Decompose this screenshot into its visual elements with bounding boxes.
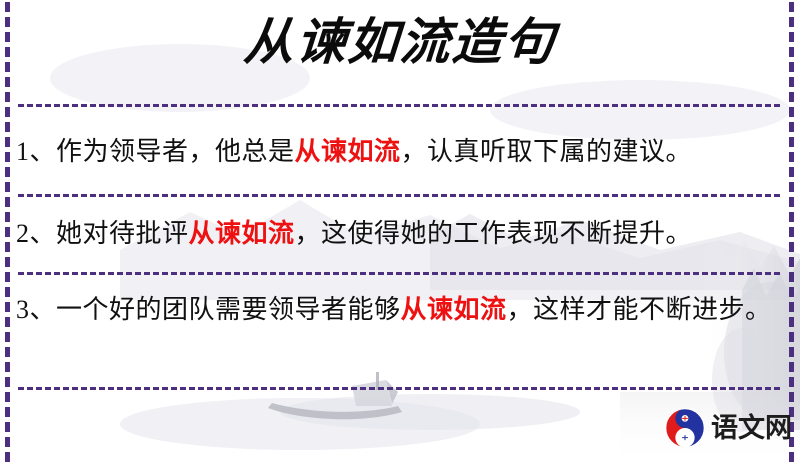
sentence-item-3: 3、一个好的团队需要领导者能够从谏如流，这样才能不断进步。 xyxy=(16,288,784,332)
sentence-3-index: 3、 xyxy=(16,295,56,324)
divider-after-sentence-1 xyxy=(18,194,780,197)
slide-page: 从谏如流造句 1、作为领导者，他总是从谏如流，认真听取下属的建议。 2、她对待批… xyxy=(0,0,800,464)
site-logo-text: 语文网 xyxy=(711,415,792,442)
divider-top xyxy=(18,104,780,107)
sentence-2-idiom: 从谏如流 xyxy=(189,219,295,248)
sentence-1-before: 作为领导者，他总是 xyxy=(56,137,295,166)
sentence-item-1: 1、作为领导者，他总是从谏如流，认真听取下属的建议。 xyxy=(16,130,784,174)
sentence-1-after: ，认真听取下属的建议。 xyxy=(401,137,693,166)
sentence-2-index: 2、 xyxy=(16,219,56,248)
sentence-3-after: ，这样才能不断进步。 xyxy=(507,295,772,324)
slide-content: 从谏如流造句 1、作为领导者，他总是从谏如流，认真听取下属的建议。 2、她对待批… xyxy=(0,0,800,464)
divider-after-sentence-2 xyxy=(18,272,780,275)
page-title-row: 从谏如流造句 xyxy=(0,14,800,70)
sentence-1-index: 1、 xyxy=(16,137,56,166)
sentence-2-before: 她对待批评 xyxy=(56,219,189,248)
site-logo[interactable]: 语文网 xyxy=(664,407,792,449)
sentence-item-2: 2、她对待批评从谏如流，这使得她的工作表现不断提升。 xyxy=(16,212,784,256)
sentence-3-idiom: 从谏如流 xyxy=(401,295,507,324)
yuwen-taiji-logo-icon xyxy=(664,407,706,449)
sentence-1-idiom: 从谏如流 xyxy=(295,137,401,166)
divider-bottom xyxy=(18,387,780,390)
sentence-2-after: ，这使得她的工作表现不断提升。 xyxy=(295,219,693,248)
sentence-3-before: 一个好的团队需要领导者能够 xyxy=(56,295,401,324)
page-title: 从谏如流造句 xyxy=(242,14,558,70)
